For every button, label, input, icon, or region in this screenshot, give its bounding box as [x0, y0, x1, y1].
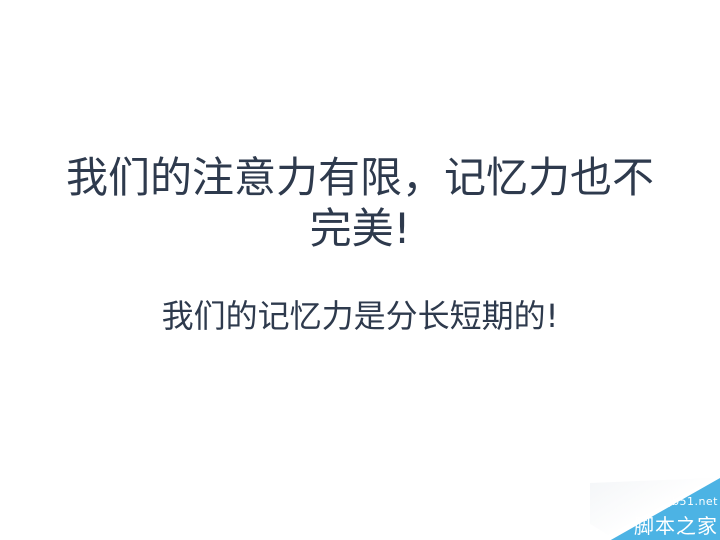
slide-content-area: 我们的注意力有限，记忆力也不完美! 我们的记忆力是分长短期的! — [0, 0, 720, 540]
slide-subtitle: 我们的记忆力是分长短期的! — [60, 295, 660, 337]
watermark-site-name-label: 脚本之家 — [634, 514, 718, 538]
watermark: jb51.net 脚本之家 — [590, 478, 720, 540]
page-title: 我们的注意力有限，记忆力也不完美! — [50, 152, 670, 254]
slide-subtitle-placeholder: 我们的记忆力是分长短期的! — [60, 295, 660, 337]
watermark-url-label: jb51.net — [668, 496, 718, 508]
presentation-slide: 我们的注意力有限，记忆力也不完美! 我们的记忆力是分长短期的! jb51.net… — [0, 0, 720, 540]
slide-title-placeholder: 我们的注意力有限，记忆力也不完美! — [50, 152, 670, 254]
